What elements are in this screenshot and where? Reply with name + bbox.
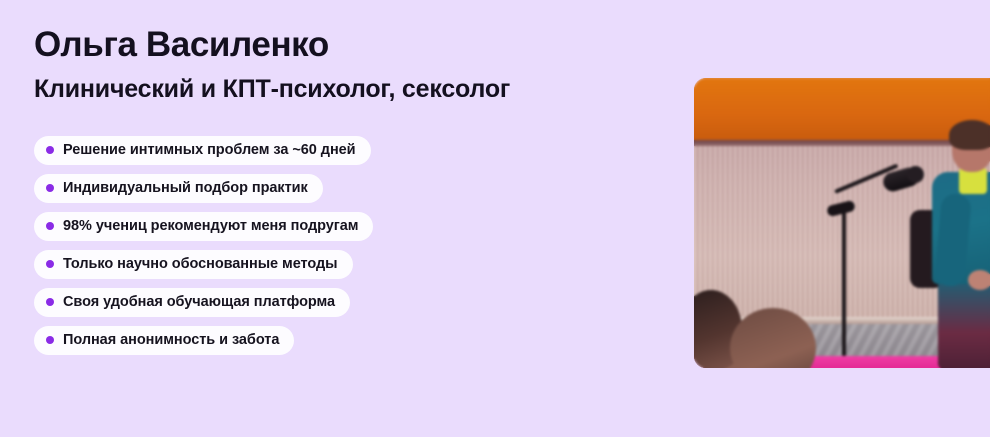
list-item: 98% учениц рекомендуют меня подругам xyxy=(34,212,373,241)
benefit-label: Только научно обоснованные методы xyxy=(63,257,338,272)
speaker-hair xyxy=(949,120,990,150)
bullet-dot-icon xyxy=(46,222,54,230)
list-item: Полная анонимность и забота xyxy=(34,326,294,355)
benefits-list: Решение интимных проблем за ~60 дней Инд… xyxy=(34,136,674,355)
benefit-label: Решение интимных проблем за ~60 дней xyxy=(63,143,356,158)
microphone-stand xyxy=(842,205,846,356)
list-item: Решение интимных проблем за ~60 дней xyxy=(34,136,371,165)
speaker-photo xyxy=(694,78,990,368)
promo-banner: Ольга Василенко Клинический и КПТ-психол… xyxy=(0,0,990,437)
bullet-dot-icon xyxy=(46,336,54,344)
list-item: Индивидуальный подбор практик xyxy=(34,174,323,203)
bullet-dot-icon xyxy=(46,146,54,154)
benefit-label: Полная анонимность и забота xyxy=(63,333,279,348)
speaker-figure xyxy=(908,124,990,368)
stage-scene xyxy=(694,78,990,368)
page-title: Ольга Василенко xyxy=(34,26,674,64)
list-item: Только научно обоснованные методы xyxy=(34,250,353,279)
list-item: Своя удобная обучающая платформа xyxy=(34,288,350,317)
benefit-label: Своя удобная обучающая платформа xyxy=(63,295,335,310)
page-subtitle: Клинический и КПТ-психолог, сексолог xyxy=(34,76,674,104)
microphone-windscreen xyxy=(907,166,924,183)
content-column: Ольга Василенко Клинический и КПТ-психол… xyxy=(34,26,674,355)
bullet-dot-icon xyxy=(46,298,54,306)
benefit-label: 98% учениц рекомендуют меня подругам xyxy=(63,219,358,234)
speaker-hand xyxy=(968,270,990,290)
benefit-label: Индивидуальный подбор практик xyxy=(63,181,308,196)
bullet-dot-icon xyxy=(46,184,54,192)
bullet-dot-icon xyxy=(46,260,54,268)
